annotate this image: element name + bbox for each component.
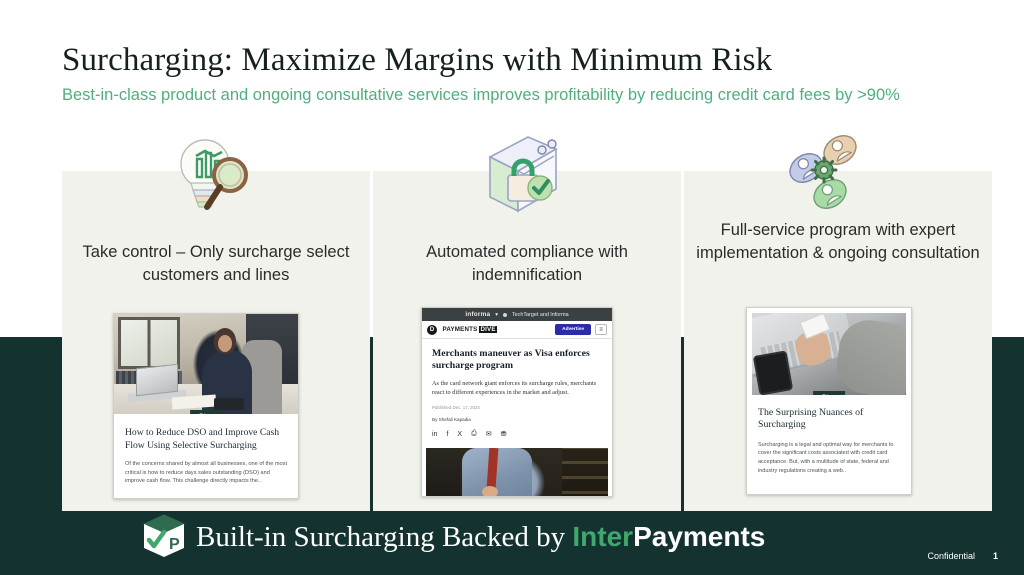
blog-tag-3: Blog — [813, 391, 845, 395]
bullet-dot-icon — [503, 313, 507, 317]
article-2-title: Merchants maneuver as Visa enforces surc… — [432, 348, 602, 373]
article-1-description: Of the concerns shared by almost all bus… — [125, 460, 287, 486]
informa-note: TechTarget and Informa — [512, 312, 569, 318]
logo-word-dive: DIVE — [479, 326, 497, 333]
confidential-label: Confidential — [927, 551, 975, 561]
page-title: Surcharging: Maximize Margins with Minim… — [62, 40, 962, 80]
email-icon[interactable]: ✉ — [486, 430, 492, 438]
article-1-title: How to Reduce DSO and Improve Cash Flow … — [125, 427, 287, 452]
payments-dive-logo-icon: D — [427, 325, 437, 335]
payments-dive-navbar: D PAYMENTSDIVE Advertise ≡ — [422, 321, 612, 339]
lightbulb-chart-magnifier-icon — [163, 131, 259, 227]
card-heading-2: Automated compliance with indemnificatio… — [383, 241, 671, 287]
chevron-down-icon[interactable]: ▾ — [495, 312, 498, 318]
card-heading-3: Full-service program with expert impleme… — [694, 219, 982, 265]
facebook-icon[interactable]: f — [446, 431, 448, 438]
article-2-byline: By Shefali Kapadia — [432, 417, 602, 422]
article-2-dek: As the card network giant enforces its s… — [432, 379, 602, 397]
informa-brand: informa — [465, 311, 490, 318]
page-subtitle: Best-in-class product and ongoing consul… — [62, 85, 937, 106]
article-2-published: Published Dec. 17, 2024 — [432, 405, 602, 410]
page-number: 1 — [993, 551, 998, 561]
brand-inter: Inter — [572, 521, 633, 552]
blog-tag-1: Blog — [190, 410, 222, 414]
interpayments-cube-logo: P — [141, 513, 187, 559]
footer-tagline-text: Built-in Surcharging Backed by — [196, 521, 572, 553]
linkedin-icon[interactable]: in — [432, 431, 437, 438]
print-icon[interactable]: ⎙ — [471, 430, 477, 438]
article-1-photo: Blog — [114, 314, 298, 414]
browser-lock-check-icon — [470, 131, 566, 227]
slide-canvas: Surcharging: Maximize Margins with Minim… — [0, 0, 1024, 575]
payments-dive-logo-text: PAYMENTSDIVE — [441, 326, 497, 333]
team-gear-consultation-icon — [778, 128, 874, 224]
footer-tagline: Built-in Surcharging Backed by InterPaym… — [196, 520, 765, 554]
informa-top-bar: informa ▾ TechTarget and Informa — [422, 308, 612, 321]
brand-payments: Payments — [633, 521, 765, 552]
license-icon[interactable]: ⛃ — [501, 430, 507, 438]
advertise-button[interactable]: Advertise — [555, 324, 591, 335]
article-3-description: Surcharging is a legal and optimal way f… — [758, 441, 900, 475]
article-2-photo — [426, 448, 608, 497]
logo-word-payments: PAYMENTS — [441, 326, 479, 333]
x-twitter-icon[interactable]: X — [457, 431, 462, 438]
hamburger-menu-icon[interactable]: ≡ — [595, 324, 607, 335]
article-3-photo: Blog — [752, 313, 906, 395]
article-card-2[interactable]: informa ▾ TechTarget and Informa D PAYME… — [421, 307, 613, 497]
article-3-title: The Surprising Nuances of Surcharging — [758, 407, 900, 432]
article-card-3[interactable]: Blog The Surprising Nuances of Surchargi… — [746, 307, 912, 495]
card-heading-1: Take control – Only surcharge select cus… — [72, 241, 360, 287]
svg-text:P: P — [169, 536, 180, 553]
article-card-1[interactable]: Blog How to Reduce DSO and Improve Cash … — [113, 313, 299, 499]
share-row: in f X ⎙ ✉ ⛃ — [432, 430, 602, 438]
